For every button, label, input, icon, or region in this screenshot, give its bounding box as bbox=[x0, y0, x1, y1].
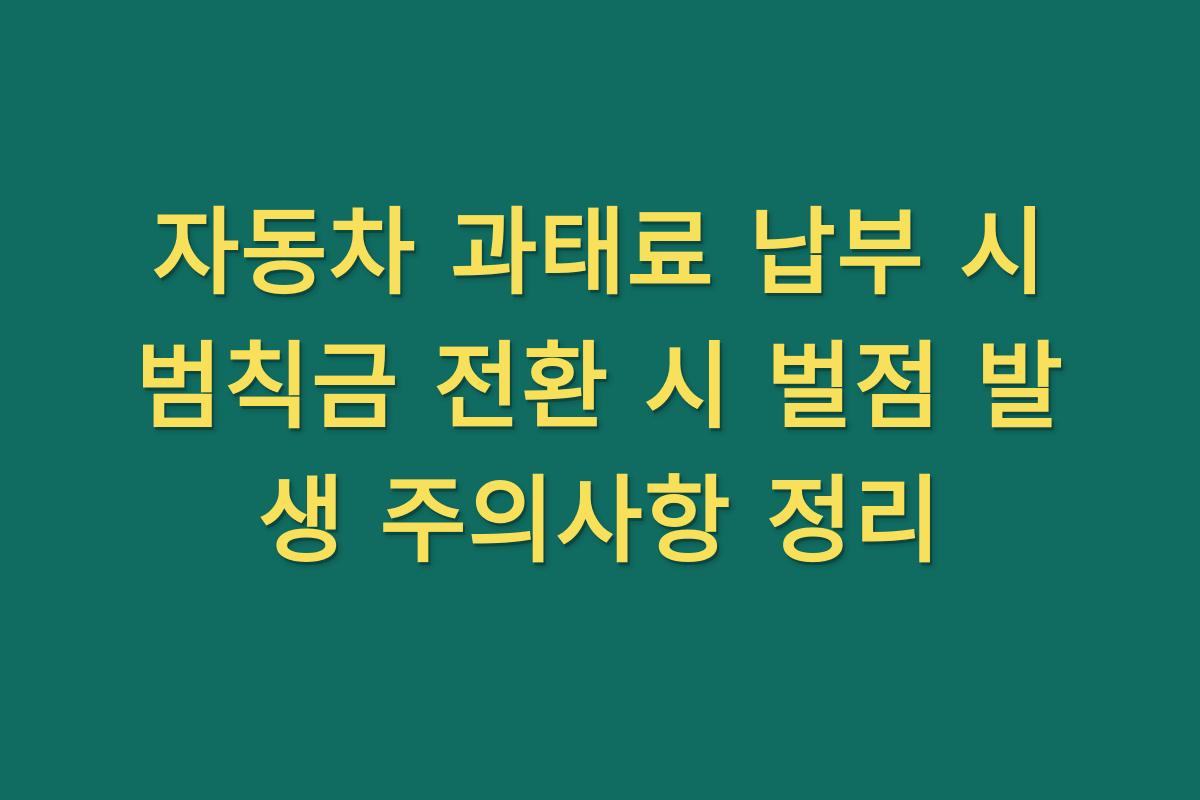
title-line-1: 자동차 과태료 납부 시 bbox=[115, 187, 1085, 321]
title-line-3: 생 주의사항 정리 bbox=[115, 455, 1085, 589]
page-title: 자동차 과태료 납부 시 범칙금 전환 시 벌점 발 생 주의사항 정리 bbox=[95, 187, 1105, 589]
thumbnail-card: 자동차 과태료 납부 시 범칙금 전환 시 벌점 발 생 주의사항 정리 bbox=[0, 0, 1200, 800]
title-line-2: 범칙금 전환 시 벌점 발 bbox=[115, 321, 1085, 455]
